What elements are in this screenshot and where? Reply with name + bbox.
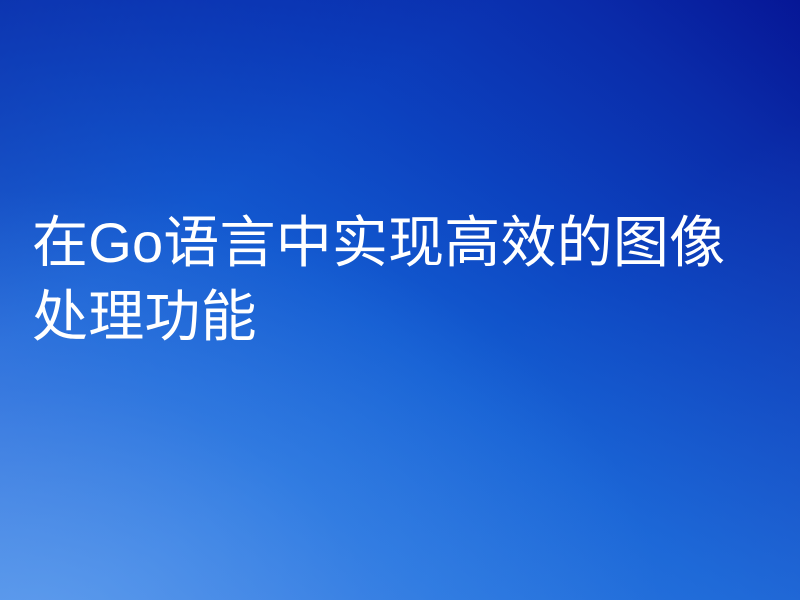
title-line-1: 在Go语言中实现高效的图像 (32, 206, 790, 280)
page-title: 在Go语言中实现高效的图像 处理功能 (32, 206, 790, 354)
title-line-2: 处理功能 (32, 280, 790, 354)
title-banner: 在Go语言中实现高效的图像 处理功能 (0, 0, 800, 600)
